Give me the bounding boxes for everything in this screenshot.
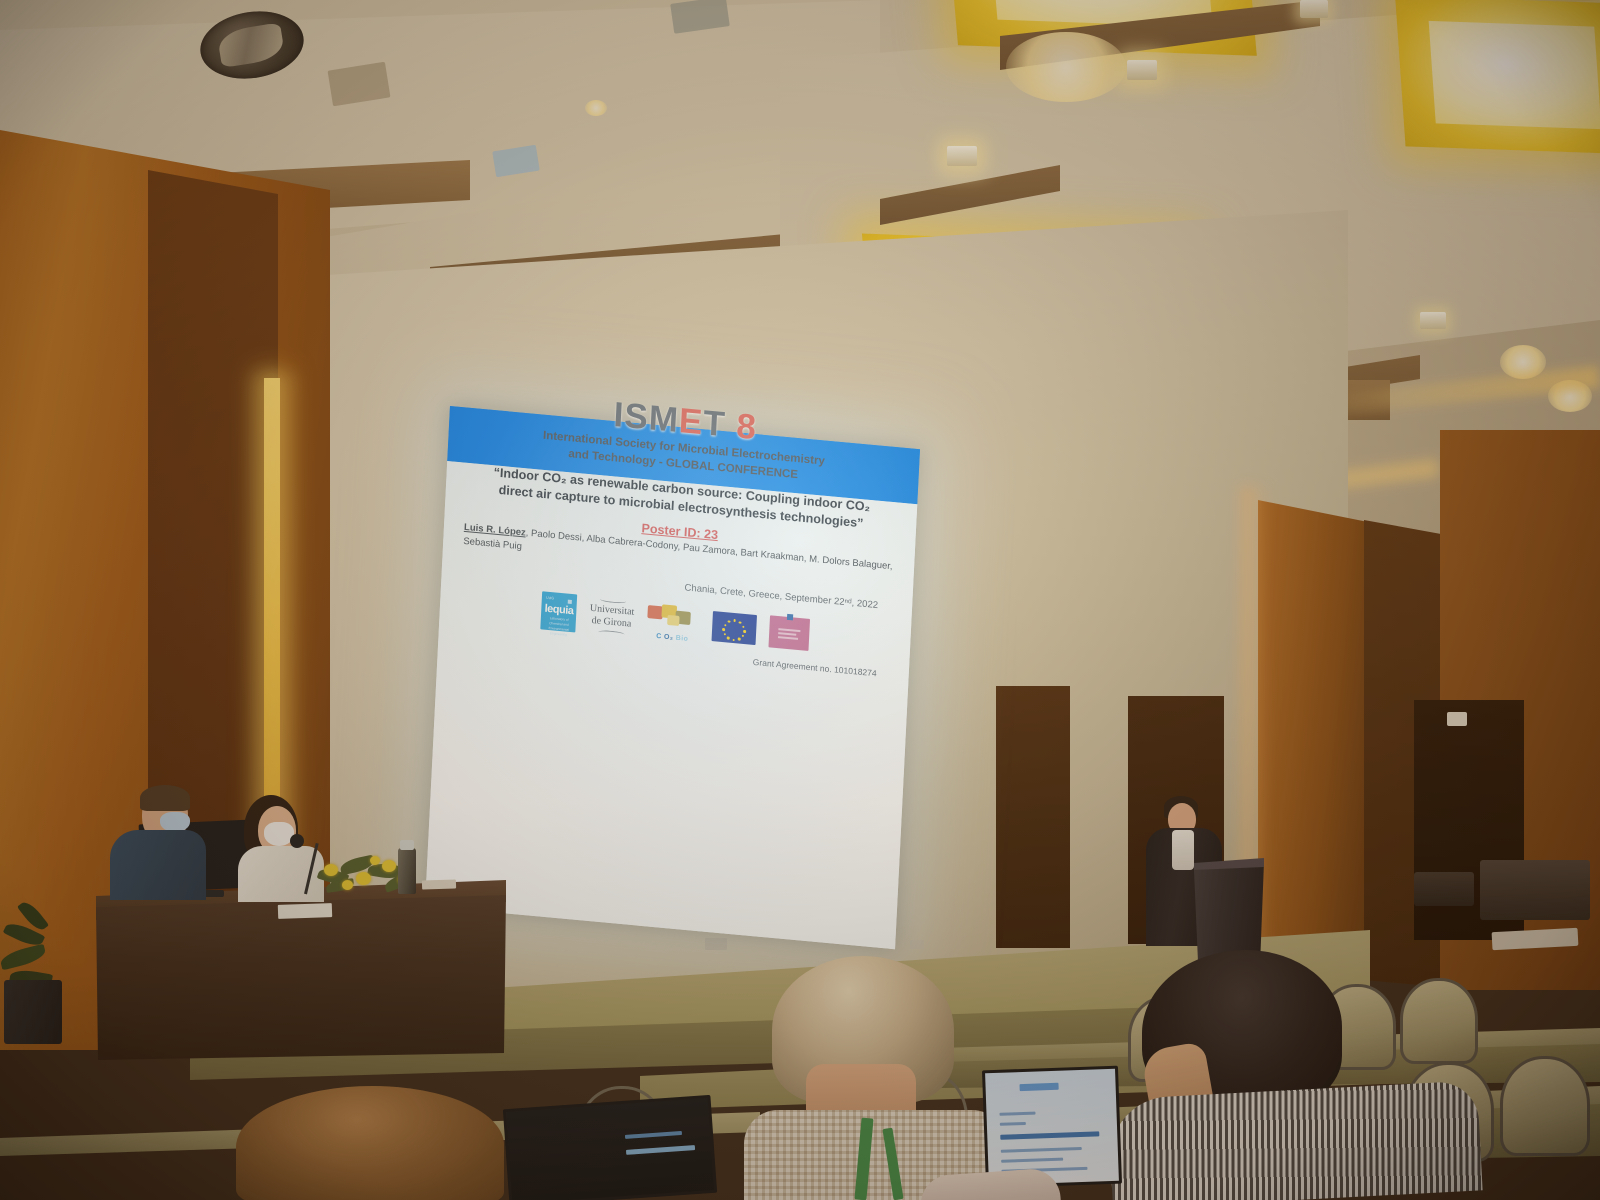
table-microphone-head [290,834,304,848]
ceiling-spotlight [947,146,977,166]
audience-chair [1400,978,1478,1064]
panel-chair-left-hair [140,785,190,811]
projection-screen: ISMET 8 International Society for Microb… [425,406,920,949]
av-equipment [1414,872,1474,906]
ceiling-spotlight [1420,312,1446,329]
lequia-logo: UdG lequia Laboratory of Chemical and En… [541,592,578,633]
udg-ornament-bottom [598,630,624,637]
lequia-logo-bottom-text: Laboratory of Chemical and Environmental… [543,616,574,638]
horizon-programme-logo [768,616,810,652]
speaker-shirt [1172,830,1194,870]
ceiling-downlight [585,100,607,116]
floor-trash-bin [4,980,62,1044]
av-equipment [1480,860,1590,920]
ismet-logo-part3: T [702,403,726,444]
co2bio-text-o: O₂ [664,634,674,642]
panel-nameplate [278,903,332,919]
panel-chair-left-mask [160,812,190,832]
lequia-logo-dot [568,600,572,604]
ceiling-light-panel [1395,0,1600,154]
co2bio-logo: C O₂ Bio [646,601,700,644]
panel-table [96,895,506,1060]
water-bottle-cap [400,840,414,850]
panel-chair-left-torso [110,830,206,900]
ceiling-downlight [1006,32,1126,102]
co2bio-text-bio: Bio [676,635,689,643]
ceiling-spotlight [1127,60,1157,80]
water-bottle [398,848,416,894]
audience-laptop-right[interactable] [982,1066,1122,1189]
wall-sign [1447,712,1467,726]
audience-chair [1500,1056,1590,1156]
ismet-logo-part2: E [678,401,704,442]
ismet-logo-part1: ISM [613,395,680,440]
ismet-logo-number: 8 [735,406,757,447]
puzzle-piece-red [647,605,663,619]
conference-hall-scene: ISMET 8 International Society for Microb… [0,0,1600,1200]
wall-outlet [910,940,924,949]
lequia-logo-top-text: UdG [546,596,554,601]
wall-outlet [705,938,727,950]
universitat-de-girona-logo: Universitat de Girona [589,596,635,638]
table-papers [422,879,456,889]
audience-left-hair [236,1086,504,1200]
puzzle-piece-light [667,615,680,626]
co2bio-text-c: C [656,633,662,641]
audience-curly-shirt [1107,1080,1482,1200]
stage-door [996,686,1070,948]
ceiling-spotlight [1300,0,1328,18]
audience-laptop-left[interactable] [503,1095,717,1200]
co2bio-logo-text: C O₂ Bio [646,632,698,644]
horizon-logo-tag [787,614,793,621]
udg-ornament-top [599,597,625,604]
european-union-flag-logo [711,611,757,645]
